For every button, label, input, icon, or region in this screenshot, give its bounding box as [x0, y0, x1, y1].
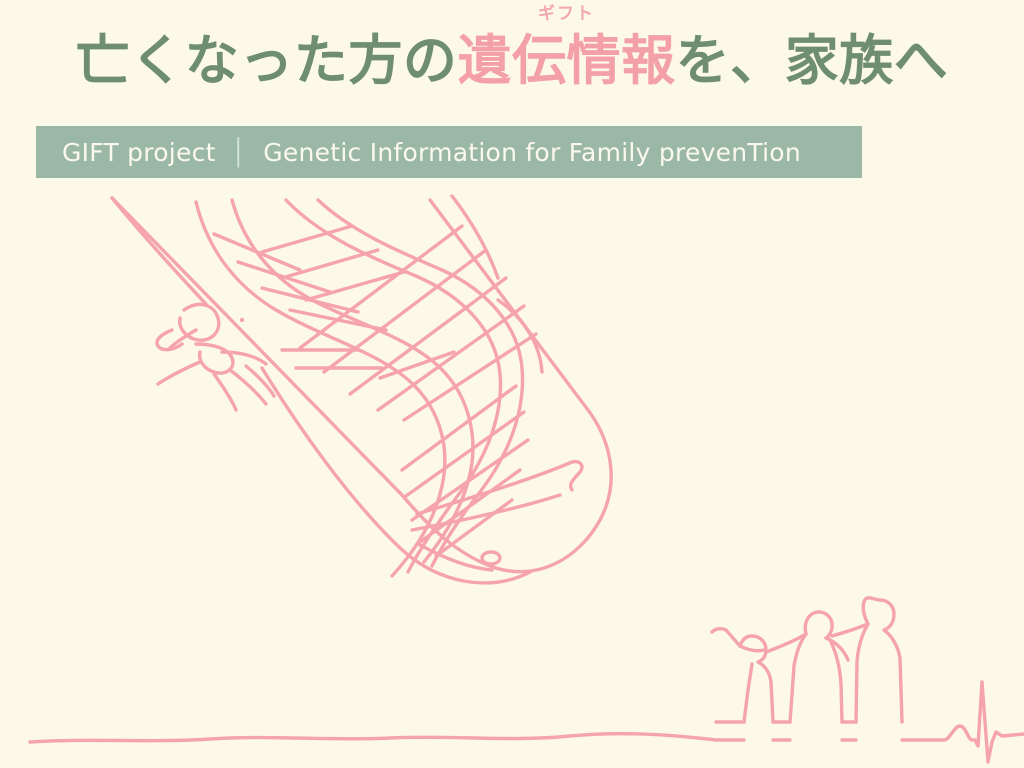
title-highlight-with-ruby: ギフト遺伝情報: [457, 34, 675, 88]
slide-root: 亡くなった方のギフト遺伝情報を、家族へ GIFT project │ Genet…: [0, 0, 1024, 768]
family-silhouette: [712, 598, 902, 722]
illustration-layer: [0, 0, 1024, 768]
dna-gift-drawing: [112, 196, 611, 583]
title-part1: 亡くなった方の: [76, 34, 458, 88]
title-ruby-gift: ギフト: [457, 6, 675, 23]
subtitle-project-name: GIFT project: [62, 138, 216, 167]
ecg-heartbeat-line: [30, 682, 1024, 762]
subtitle-separator: │: [232, 138, 248, 167]
subtitle-expansion: Genetic Information for Family prevenTio…: [263, 138, 801, 167]
title-part2: を、家族へ: [676, 34, 949, 88]
page-title: 亡くなった方のギフト遺伝情報を、家族へ: [0, 34, 1024, 88]
subtitle-bar: GIFT project │ Genetic Information for F…: [36, 126, 862, 178]
title-highlight: 遺伝情報: [457, 34, 675, 88]
